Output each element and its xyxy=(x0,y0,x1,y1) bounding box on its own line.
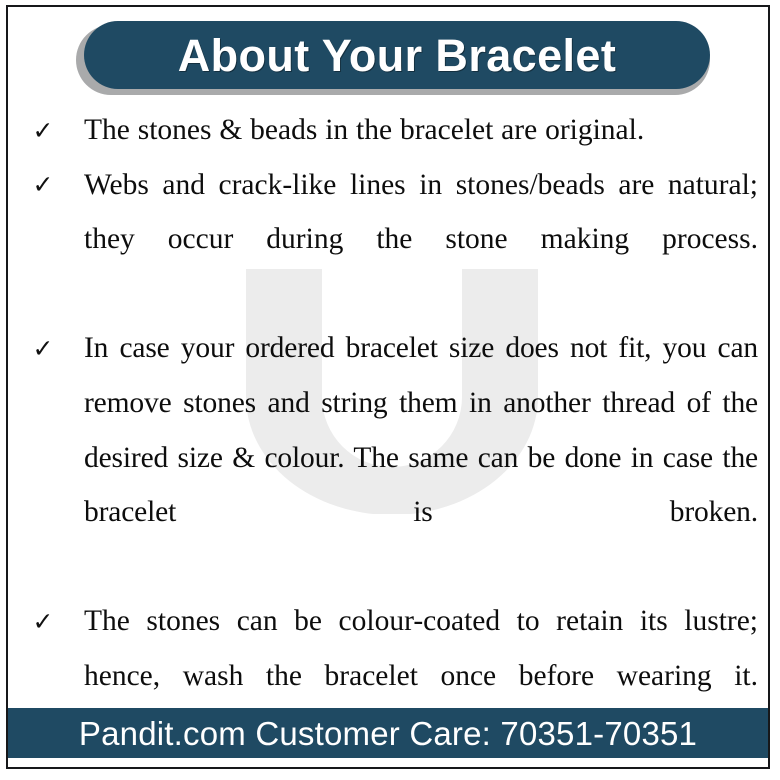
list-item-text: The stones & beads in the bracelet are o… xyxy=(84,103,758,158)
customer-care-footer: Pandit.com Customer Care: 70351-70351 xyxy=(8,708,768,758)
list-item-text: Webs and crack-like lines in stones/bead… xyxy=(84,158,758,322)
bracelet-notes-list: ✓ The stones & beads in the bracelet are… xyxy=(8,103,770,758)
check-icon: ✓ xyxy=(30,158,56,212)
about-your-bracelet-card: About Your Bracelet ✓ The stones & beads… xyxy=(6,5,770,769)
list-item: ✓ The stones & beads in the bracelet are… xyxy=(8,103,770,158)
list-item-text: In case your ordered bracelet size does … xyxy=(84,321,758,594)
header-pill: About Your Bracelet xyxy=(84,21,710,89)
check-icon: ✓ xyxy=(30,594,56,648)
list-item: ✓ In case your ordered bracelet size doe… xyxy=(8,321,770,594)
customer-care-text: Pandit.com Customer Care: 70351-70351 xyxy=(79,717,697,750)
page-title: About Your Bracelet xyxy=(178,33,617,78)
page-header: About Your Bracelet xyxy=(8,21,768,97)
list-item: ✓ Webs and crack-like lines in stones/be… xyxy=(8,158,770,322)
check-icon: ✓ xyxy=(30,103,56,157)
check-icon: ✓ xyxy=(30,321,56,375)
